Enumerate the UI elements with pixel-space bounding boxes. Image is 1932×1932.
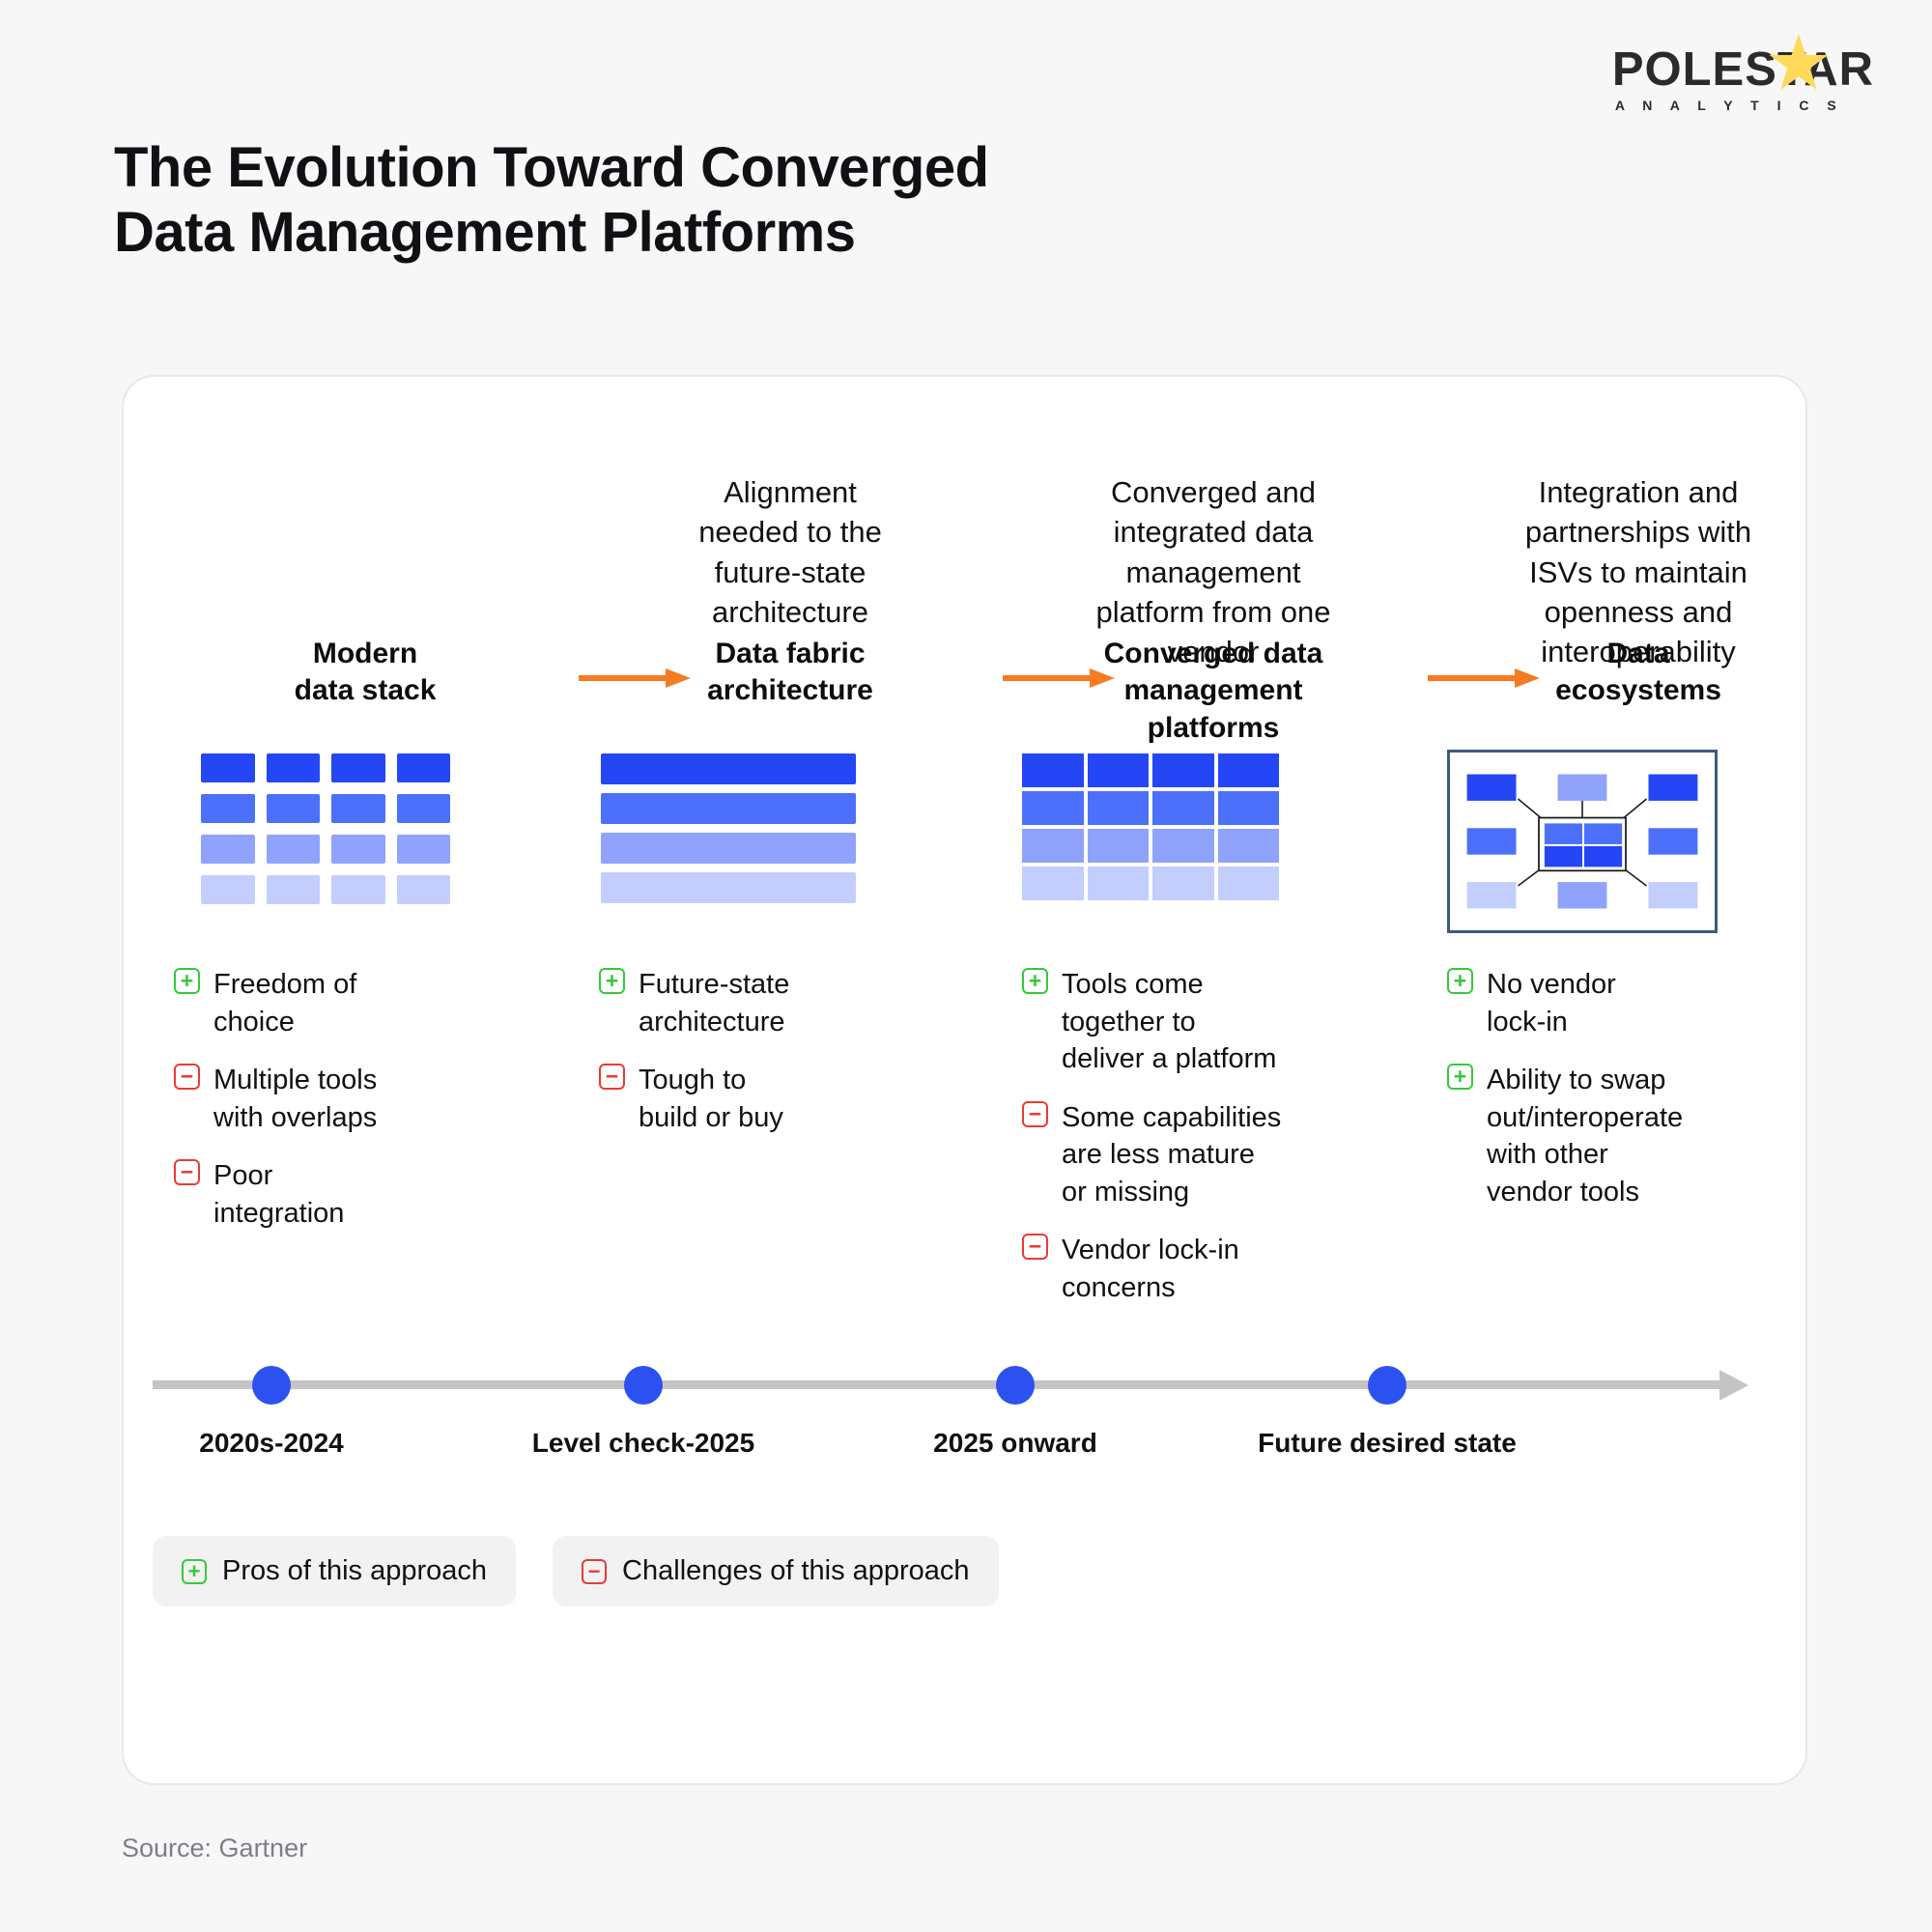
timeline-dot — [996, 1366, 1035, 1405]
stage-graphic-sparse-grid — [153, 753, 578, 927]
sparse-grid — [201, 753, 450, 904]
plus-icon: + — [182, 1559, 207, 1584]
minus-icon: − — [1022, 1234, 1048, 1260]
stage-bullet-list: + Tools come together to deliver a platf… — [1022, 966, 1428, 1328]
stage-arrow-icon — [1001, 666, 1117, 691]
list-item: − Tough to build or buy — [599, 1062, 1005, 1136]
page-title: The Evolution Toward Converged Data Mana… — [114, 135, 989, 266]
stage-bullet-list: + Future-state architecture − Tough to b… — [599, 966, 1005, 1157]
list-item: + Freedom of choice — [174, 966, 580, 1040]
stage-bullet-list: + Freedom of choice − Multiple tools wit… — [174, 966, 580, 1253]
timeline-arrowhead-icon — [1719, 1370, 1748, 1401]
timeline-axis — [153, 1370, 1785, 1399]
bullet-text: Multiple tools with overlaps — [213, 1062, 377, 1136]
stage-caption — [153, 433, 578, 512]
plus-icon: + — [599, 968, 625, 994]
stage-arrow-icon — [577, 666, 693, 691]
stage-heading: Converged data management platforms — [1001, 636, 1426, 747]
stage-graphic-bars — [578, 753, 1003, 927]
list-item: + No vendor lock-in — [1447, 966, 1853, 1040]
list-item: + Tools come together to deliver a platf… — [1022, 966, 1428, 1078]
timeline-label: 2020s-2024 — [199, 1428, 343, 1459]
bullet-text: Tools come together to deliver a platfor… — [1062, 966, 1276, 1078]
logo-main-text: POLESTAR — [1612, 46, 1874, 94]
bullet-text: No vendor lock-in — [1487, 966, 1616, 1040]
plus-icon: + — [1447, 968, 1473, 994]
stage-caption-text: Alignment needed to the future-state arc… — [698, 472, 882, 632]
timeline-dot — [252, 1366, 291, 1405]
plus-icon: + — [1447, 1064, 1473, 1090]
legend-item-challenges: − Challenges of this approach — [553, 1536, 999, 1606]
bullet-text: Vendor lock-in concerns — [1062, 1232, 1239, 1306]
plus-icon: + — [174, 968, 200, 994]
minus-icon: − — [174, 1159, 200, 1185]
ecosystem-diagram — [1450, 753, 1715, 930]
infographic-page: POLESTAR A N A L Y T I C S The Evolution… — [0, 0, 1932, 1932]
list-item: + Future-state architecture — [599, 966, 1005, 1040]
stage-graphic-tight-grid — [1001, 753, 1426, 927]
timeline-dot — [624, 1366, 663, 1405]
stage-caption: Alignment needed to the future-state arc… — [578, 433, 1003, 632]
minus-icon: − — [1022, 1101, 1048, 1127]
bar-stack — [601, 753, 856, 912]
list-item: − Vendor lock-in concerns — [1022, 1232, 1428, 1306]
minus-icon: − — [582, 1559, 607, 1584]
stage-bullet-list: + No vendor lock-in + Ability to swap ou… — [1447, 966, 1853, 1232]
polestar-analytics-logo: POLESTAR A N A L Y T I C S — [1612, 46, 1874, 115]
timeline-label: 2025 onward — [933, 1428, 1097, 1459]
star-icon — [1769, 33, 1829, 93]
logo-wordmark: POLESTAR A N A L Y T I C S — [1612, 46, 1874, 113]
timeline-label: Future desired state — [1258, 1428, 1517, 1459]
list-item: − Poor integration — [174, 1157, 580, 1232]
timeline-line — [153, 1380, 1722, 1389]
bullet-text: Future-state architecture — [639, 966, 789, 1040]
minus-icon: − — [174, 1064, 200, 1090]
stage-arrow-icon — [1426, 666, 1542, 691]
tight-grid — [1022, 753, 1279, 900]
timeline-labels: 2020s-2024 Level check-2025 2025 onward … — [124, 1428, 1809, 1476]
stage-graphic-ecosystem — [1426, 753, 1851, 927]
list-item: + Ability to swap out/interoperate with … — [1447, 1062, 1853, 1210]
legend-label: Pros of this approach — [222, 1555, 487, 1587]
stage-heading: Modern data stack — [153, 636, 578, 710]
bullet-text: Poor integration — [213, 1157, 344, 1232]
legend-item-pros: + Pros of this approach — [153, 1536, 516, 1606]
bullet-text: Tough to build or buy — [639, 1062, 783, 1136]
diagram-card: Modern data stack + Freedom of choice — [122, 375, 1807, 1785]
bullet-text: Some capabilities are less mature or mis… — [1062, 1099, 1281, 1211]
ecosystem-box — [1447, 750, 1718, 933]
source-note: Source: Gartner — [122, 1833, 307, 1863]
list-item: − Some capabilities are less mature or m… — [1022, 1099, 1428, 1211]
timeline-label: Level check-2025 — [532, 1428, 754, 1459]
legend-label: Challenges of this approach — [622, 1555, 970, 1587]
bullet-text: Ability to swap out/interoperate with ot… — [1487, 1062, 1683, 1210]
plus-icon: + — [1022, 968, 1048, 994]
minus-icon: − — [599, 1064, 625, 1090]
timeline-dot — [1368, 1366, 1406, 1405]
logo-sub-text: A N A L Y T I C S — [1612, 98, 1874, 113]
list-item: − Multiple tools with overlaps — [174, 1062, 580, 1136]
bullet-text: Freedom of choice — [213, 966, 356, 1040]
legend: + Pros of this approach − Challenges of … — [153, 1536, 999, 1606]
